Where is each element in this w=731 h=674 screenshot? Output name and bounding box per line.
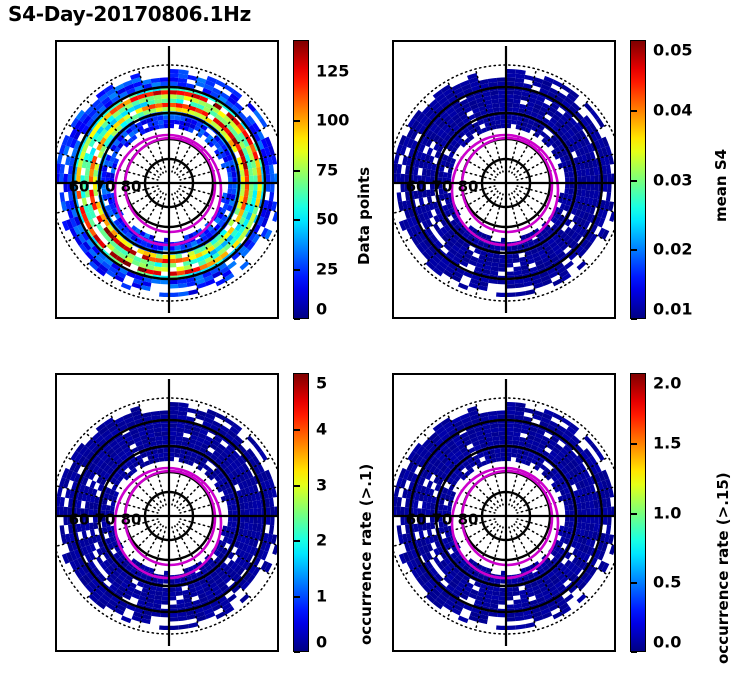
colorbar-tick-label: 5 (316, 373, 327, 392)
polar-data-cell (169, 423, 177, 428)
polar-data-cell (175, 254, 182, 259)
polar-data-cell (422, 183, 427, 190)
polar-data-cell (121, 282, 132, 290)
polar-data-cell (561, 84, 571, 93)
polar-data-cell (498, 600, 506, 605)
polar-data-cell (494, 245, 500, 250)
polar-data-cell (506, 263, 513, 268)
polar-data-cell (76, 175, 81, 183)
polar-data-cell (496, 457, 501, 462)
polar-data-cell (224, 84, 234, 93)
polar-data-cell (161, 90, 169, 95)
polar-data-cell (417, 175, 422, 183)
polar-data-cell (174, 120, 180, 125)
polar-data-cell (249, 176, 254, 183)
polar-data-cell (512, 440, 519, 445)
polar-data-cell (187, 75, 197, 81)
polar-data-cell (606, 525, 611, 534)
polar-data-cell (497, 82, 506, 87)
polar-data-cell (405, 174, 410, 183)
polar-data-cell (494, 449, 500, 454)
polar-data-cell (169, 596, 176, 601)
polar-data-cell (495, 120, 501, 125)
polar-data-cell (110, 506, 115, 511)
polar-data-cell (413, 175, 418, 183)
polar-data-cell (524, 408, 534, 414)
polar-data-cell (159, 625, 169, 630)
polar-data-cell (259, 451, 268, 461)
polar-data-cell (495, 453, 501, 458)
polar-data-cell (60, 525, 65, 535)
polar-data-cell (159, 292, 169, 297)
polar-data-cell (430, 503, 435, 510)
polar-data-cell (506, 402, 516, 407)
polar-data-cell (511, 453, 517, 458)
polar-data-cell (552, 80, 563, 88)
polar-data-cell (102, 171, 107, 177)
polar-data-cell (59, 506, 64, 516)
polar-data-cell (397, 192, 402, 202)
polar-data-cell (231, 522, 236, 528)
polar-data-cell (506, 82, 515, 87)
colorbar-title-occurrence-rate-gt-0-1: occurrence rate (>.1) (357, 464, 375, 645)
polar-data-cell (169, 410, 178, 415)
polar-data-cell (272, 544, 277, 555)
colorbar-tick-label: 0.02 (653, 239, 692, 258)
polar-data-cell (215, 278, 226, 286)
polar-data-cell (561, 417, 571, 426)
polar-data-cell (253, 516, 258, 524)
polar-data-cell (506, 69, 516, 74)
polar-data-cell (157, 578, 163, 583)
polar-data-cell (169, 292, 179, 297)
polar-data-cell (63, 516, 68, 525)
polar-data-cell (240, 189, 245, 196)
polar-data-cell (568, 189, 573, 195)
polar-data-cell (577, 522, 582, 529)
polar-data-cell (169, 94, 177, 99)
colorbar-data-points[interactable]: 1251007550250 (293, 40, 309, 319)
polar-data-cell (498, 90, 506, 95)
polar-data-cell (506, 94, 514, 99)
polar-data-cell (161, 423, 169, 428)
polar-data-cell (396, 506, 401, 516)
polar-data-cell (169, 77, 178, 82)
polar-data-cell (224, 417, 234, 426)
polar-data-cell (266, 507, 271, 516)
polar-data-cell (506, 280, 515, 285)
polar-data-cell (156, 254, 163, 259)
polar-data-cell (568, 504, 573, 510)
polar-data-cell (512, 245, 518, 250)
polar-data-cell (59, 173, 64, 183)
polar-data-cell (93, 189, 98, 196)
polar-data-cell (159, 457, 164, 462)
polar-data-cell (272, 211, 277, 222)
colorbar-tick-label: 100 (316, 111, 349, 130)
polar-data-cell (422, 516, 427, 523)
colorbar-tick-label: 3 (316, 475, 327, 494)
polar-data-cell (106, 521, 111, 527)
polar-data-cell (240, 522, 245, 529)
polar-data-cell (259, 118, 268, 128)
polar-data-cell (506, 271, 514, 276)
polar-data-cell (498, 427, 506, 432)
polar-data-cell (417, 516, 422, 524)
polar-data-cell (90, 529, 96, 537)
polar-data-cell (63, 507, 68, 516)
polar-data-cell (274, 173, 277, 183)
polar-data-cell (586, 516, 591, 523)
polar-data-cell (156, 440, 163, 445)
polar-data-cell (274, 506, 277, 516)
polar-data-cell (494, 578, 500, 583)
polar-data-cell (110, 173, 115, 178)
colorbar-tick-label: 4 (316, 420, 327, 439)
polar-data-cell (68, 174, 73, 183)
polar-data-cell (497, 410, 506, 415)
polar-data-cell (400, 183, 405, 192)
polar-data-cell (266, 183, 271, 192)
polar-data-cell (215, 413, 226, 421)
polar-data-cell (106, 188, 111, 194)
polar-data-cell (443, 172, 448, 178)
polar-data-cell (496, 292, 506, 297)
polar-data-cell (590, 443, 599, 453)
polar-data-cell (169, 432, 176, 437)
polar-data-cell (512, 254, 519, 259)
polar-data-cell (594, 175, 599, 183)
polar-data-cell (169, 82, 178, 87)
polar-data-cell (443, 505, 448, 511)
polar-data-cell (439, 504, 444, 510)
polar-plot-svg (57, 375, 277, 650)
polar-data-cell (586, 183, 591, 190)
polar-data-cell (93, 522, 98, 529)
polar-data-cell (396, 173, 401, 183)
polar-data-cell (498, 423, 506, 428)
polar-data-cell (506, 432, 513, 437)
polar-data-cell (499, 99, 506, 104)
colorbar-mean-s4[interactable]: 0.050.040.030.020.01 (630, 40, 646, 319)
polar-data-cell (253, 183, 258, 191)
polar-data-cell (158, 453, 164, 458)
polar-data-cell (160, 77, 169, 82)
polar-data-cell (590, 110, 599, 120)
polar-data-cell (511, 120, 517, 125)
colorbar-ticks: 543210 (294, 374, 308, 651)
polar-data-cell (175, 116, 181, 121)
polar-data-cell (160, 82, 169, 87)
colorbar-ticks: 0.050.040.030.020.01 (631, 41, 645, 318)
polar-data-cell (269, 192, 274, 201)
polar-data-cell (506, 427, 514, 432)
polar-data-cell (169, 415, 178, 420)
polar-data-cell (162, 432, 169, 437)
polar-data-cell (68, 507, 73, 516)
polar-data-cell (497, 77, 506, 82)
colorbar-tick-mark (294, 318, 300, 320)
colorbar-tick-label: 0.5 (653, 572, 681, 591)
polar-data-cell (611, 506, 614, 516)
polar-data-cell (85, 183, 90, 190)
polar-data-cell (227, 172, 232, 178)
polar-data-cell (85, 516, 90, 523)
colorbar-tick-mark (631, 443, 637, 445)
colorbar-tick-mark (294, 485, 300, 487)
panel-mean-s4[interactable]: 607080 (392, 40, 616, 319)
polar-data-cell (231, 504, 236, 510)
polar-data-cell (506, 77, 515, 82)
polar-data-cell (76, 508, 81, 516)
polar-data-cell (430, 522, 435, 529)
polar-data-cell (607, 174, 612, 183)
polar-data-cell (596, 451, 605, 461)
polar-data-cell (506, 410, 515, 415)
polar-data-cell (512, 107, 519, 112)
polar-data-cell (106, 505, 111, 511)
colorbar-tick-mark (631, 582, 637, 584)
polar-data-cell (405, 507, 410, 516)
polar-data-cell (609, 544, 614, 555)
polar-data-cell (169, 427, 177, 432)
colorbar-tick-mark (294, 651, 300, 653)
colorbar-tick-mark (631, 513, 637, 515)
polar-data-cell (499, 263, 506, 268)
colorbar-tick-label: 1.5 (653, 434, 681, 453)
colorbar-title-mean-s4: mean S4 (712, 149, 730, 222)
polar-data-cell (607, 516, 612, 525)
colorbar-tick-mark (294, 120, 300, 122)
polar-data-cell (162, 596, 169, 601)
polar-data-cell (506, 292, 516, 297)
colorbar-tick-label: 1.0 (653, 503, 681, 522)
polar-data-cell (161, 94, 169, 99)
polar-data-cell (169, 284, 178, 289)
polar-data-cell (577, 261, 587, 271)
polar-data-cell (439, 189, 444, 195)
polar-data-cell (594, 508, 599, 516)
polar-data-cell (493, 254, 500, 259)
colorbar-title-occurrence-rate-gt-0-15: occurrence rate (>.15) (714, 472, 731, 664)
polar-data-cell (80, 183, 85, 191)
polar-data-cell (266, 516, 271, 525)
polar-data-cell (169, 90, 177, 95)
colorbar-tick-label: 0 (316, 633, 327, 652)
colorbar-tick-mark (294, 269, 300, 271)
polar-data-cell (175, 440, 182, 445)
polar-data-cell (596, 118, 605, 128)
colorbar-occurrence-rate-gt-0-15[interactable]: 2.01.51.00.50.0 (630, 373, 646, 652)
panel-data-points[interactable]: 607080 (55, 40, 279, 319)
polar-data-cell (524, 75, 534, 81)
polar-data-cell (270, 183, 275, 192)
colorbar-tick-label: 2.0 (653, 373, 681, 392)
polar-data-cell (80, 175, 85, 183)
polar-data-cell (249, 509, 254, 516)
polar-data-cell (506, 596, 513, 601)
polar-plot-svg (57, 42, 277, 317)
polar-data-cell (516, 624, 526, 629)
polar-data-cell (160, 410, 169, 415)
polar-data-cell (397, 525, 402, 535)
colorbar-tick-mark (294, 219, 300, 221)
polar-data-cell (443, 521, 448, 527)
polar-data-cell (400, 516, 405, 525)
polar-data-cell (169, 69, 179, 74)
polar-data-cell (253, 508, 258, 516)
polar-data-cell (405, 183, 410, 192)
polar-data-cell (266, 174, 271, 183)
colorbar-tick-mark (294, 170, 300, 172)
polar-data-cell (169, 613, 178, 618)
polar-data-cell (422, 176, 427, 183)
polar-data-cell (257, 183, 262, 191)
polar-data-cell (169, 280, 178, 285)
polar-data-cell (506, 99, 513, 104)
polar-data-cell (102, 522, 107, 528)
colorbar-tick-mark (631, 318, 637, 320)
polar-data-cell (93, 170, 98, 177)
polar-data-cell (257, 508, 262, 516)
polar-data-cell (568, 171, 573, 177)
polar-data-cell (80, 516, 85, 524)
polar-data-cell (564, 521, 569, 527)
polar-data-cell (427, 480, 434, 488)
polar-data-cell (179, 291, 189, 296)
polar-data-cell (430, 170, 435, 177)
polar-data-cell (159, 124, 164, 129)
polar-data-cell (439, 171, 444, 177)
colorbar-tick-mark (631, 651, 637, 653)
polar-data-cell (506, 604, 514, 609)
polar-data-cell (512, 587, 519, 592)
polar-data-cell (90, 480, 97, 488)
polar-data-cell (447, 506, 452, 511)
polar-data-cell (215, 80, 226, 88)
polar-data-cell (498, 94, 506, 99)
polar-data-cell (516, 291, 526, 296)
polar-data-cell (594, 516, 599, 524)
figure-canvas: S4-Day-20170806.1Hz 607080 1251007550250… (0, 0, 731, 674)
colorbar-occurrence-rate-gt-0-1[interactable]: 543210 (293, 373, 309, 652)
polar-data-cell (156, 107, 163, 112)
polar-data-cell (577, 503, 582, 510)
polar-plot-area: 607080 (394, 375, 614, 650)
polar-data-cell (174, 453, 180, 458)
polar-data-cell (161, 600, 169, 605)
polar-data-cell (552, 278, 563, 286)
polar-data-cell (422, 509, 427, 516)
colorbar-ticks: 1251007550250 (294, 41, 308, 318)
polar-data-cell (493, 440, 500, 445)
polar-data-cell (405, 516, 410, 525)
polar-data-cell (162, 263, 169, 268)
polar-data-cell (590, 183, 595, 191)
polar-data-cell (175, 107, 182, 112)
colorbar-tick-mark (294, 596, 300, 598)
polar-data-cell (160, 613, 169, 618)
polar-data-cell (496, 625, 506, 630)
polar-data-cell (577, 189, 582, 196)
panel-occurrence-rate-gt-0-15[interactable]: 607080 (392, 373, 616, 652)
polar-data-cell (506, 625, 516, 630)
colorbar-ticks: 2.01.51.00.50.0 (631, 374, 645, 651)
polar-data-cell (270, 516, 275, 525)
polar-data-cell (249, 183, 254, 190)
polar-data-cell (512, 578, 518, 583)
polar-data-cell (157, 449, 163, 454)
polar-data-cell (169, 271, 177, 276)
polar-data-cell (158, 120, 164, 125)
polar-data-cell (93, 503, 98, 510)
polar-data-cell (247, 435, 257, 445)
polar-data-cell (607, 507, 612, 516)
polar-data-cell (231, 171, 236, 177)
polar-data-cell (506, 415, 515, 420)
polar-data-cell (240, 170, 245, 177)
polar-data-cell (594, 183, 599, 191)
polar-data-cell (227, 521, 232, 527)
polar-data-cell (169, 604, 177, 609)
polar-data-cell (227, 505, 232, 511)
polar-data-cell (611, 173, 614, 183)
polar-data-cell (609, 211, 614, 222)
polar-data-cell (607, 183, 612, 192)
colorbar-title-data-points: Data points (355, 167, 373, 265)
polar-data-cell (253, 175, 258, 183)
panel-occurrence-rate-gt-0-1[interactable]: 607080 (55, 373, 279, 652)
colorbar-tick-label: 0.01 (653, 300, 692, 319)
colorbar-tick-label: 0 (316, 300, 327, 319)
polar-data-cell (506, 90, 514, 95)
page-title: S4-Day-20170806.1Hz (8, 2, 251, 26)
colorbar-tick-label: 0.04 (653, 101, 692, 120)
polar-data-cell (63, 174, 68, 183)
polar-data-cell (161, 427, 169, 432)
polar-data-cell (506, 284, 515, 289)
polar-data-cell (427, 529, 433, 537)
polar-data-cell (169, 263, 176, 268)
polar-data-cell (161, 267, 169, 272)
polar-data-cell (564, 188, 569, 194)
polar-data-cell (499, 432, 506, 437)
polar-data-cell (427, 147, 434, 155)
polar-data-cell (269, 525, 274, 534)
polar-data-cell (160, 280, 169, 285)
polar-data-cell (90, 147, 97, 155)
polar-data-cell (253, 110, 262, 120)
polar-data-cell (247, 102, 257, 112)
polar-data-cell (80, 508, 85, 516)
polar-data-cell (413, 508, 418, 516)
polar-data-cell (493, 587, 500, 592)
polar-data-cell (175, 449, 181, 454)
polar-data-cell (240, 261, 250, 271)
polar-data-cell (90, 196, 96, 204)
colorbar-tick-label: 0.0 (653, 633, 681, 652)
polar-data-cell (498, 267, 506, 272)
polar-data-cell (160, 415, 169, 420)
polar-data-cell (603, 516, 608, 525)
polar-data-cell (443, 188, 448, 194)
polar-data-cell (564, 505, 569, 511)
polar-data-cell (458, 615, 469, 623)
polar-data-cell (169, 406, 179, 411)
polar-data-cell (586, 176, 591, 183)
polar-data-cell (439, 522, 444, 528)
polar-plot-area: 607080 (394, 42, 614, 317)
